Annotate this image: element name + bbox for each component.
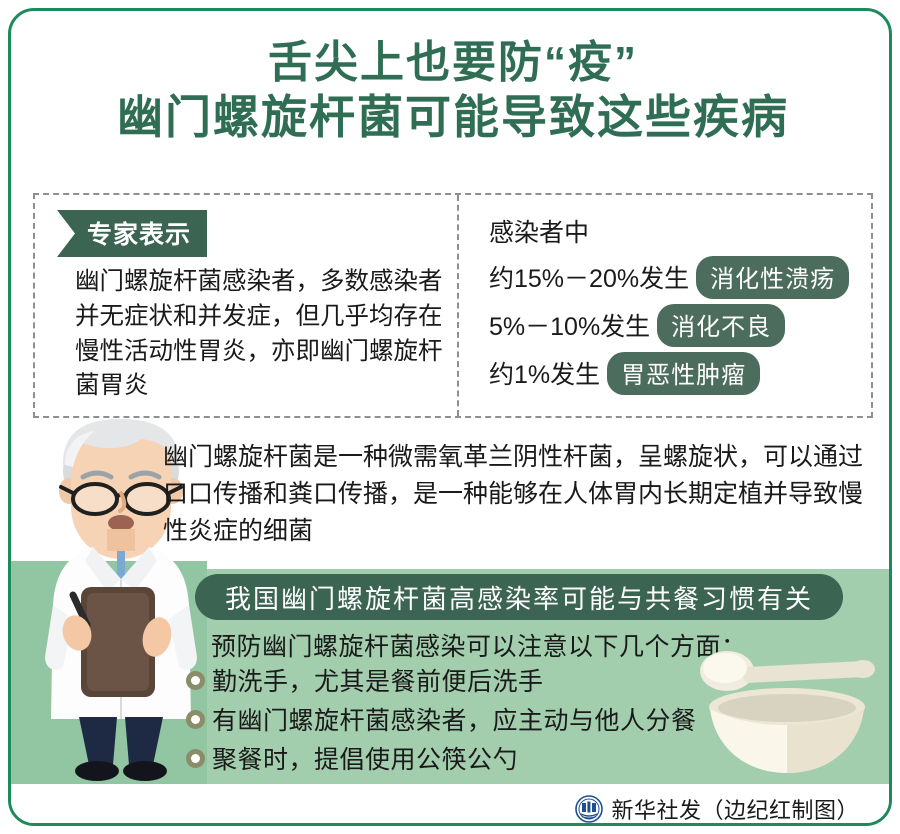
stats-heading: 感染者中 [489, 217, 861, 250]
habit-banner: 我国幽门螺旋杆菌高感染率可能与共餐习惯有关 [195, 574, 843, 620]
spoon-illustration [700, 651, 875, 691]
infographic-poster: 舌尖上也要防“疫” 幽门螺旋杆菌可能导致这些疾病 专家表示 幽门螺旋杆菌感染者，… [0, 0, 900, 834]
status-badge: 消化性溃疡 [696, 256, 849, 299]
xinhua-logo-icon [575, 795, 603, 823]
ring-bullet-icon [186, 710, 205, 729]
stat-row: 5%－10%发生 消化不良 [489, 304, 861, 347]
infection-stats-panel: 感染者中 约15%－20%发生 消化性溃疡 5%－10%发生 消化不良 约1%发… [459, 195, 871, 416]
dashed-panel-group: 专家表示 幽门螺旋杆菌感染者，多数感染者并无症状和并发症，但几乎均存在慢性活动性… [33, 193, 873, 418]
stat-row: 约15%－20%发生 消化性溃疡 [489, 256, 861, 299]
expert-ribbon-label: 专家表示 [57, 210, 207, 257]
list-item: 聚餐时，提倡使用公筷公勺 [186, 740, 697, 776]
expert-statement-text: 幽门螺旋杆菌感染者，多数感染者并无症状和并发症，但几乎均存在慢性活动性胃炎，亦即… [51, 265, 443, 404]
bowl-illustration [709, 688, 865, 773]
status-badge: 消化不良 [657, 304, 785, 347]
stat-row: 约1%发生 胃恶性肿瘤 [489, 352, 861, 395]
stat-prefix: 约15%－20%发生 [489, 259, 689, 295]
prevention-heading: 预防幽门螺旋杆菌感染可以注意以下几个方面： [211, 627, 747, 663]
list-item-label: 勤洗手，尤其是餐前便后洗手 [212, 662, 544, 698]
stat-prefix: 5%－10%发生 [489, 307, 650, 343]
list-item: 有幽门螺旋杆菌感染者，应主动与他人分餐 [186, 701, 697, 737]
poster-frame: 舌尖上也要防“疫” 幽门螺旋杆菌可能导致这些疾病 专家表示 幽门螺旋杆菌感染者，… [8, 8, 892, 826]
bacteria-description-text: 幽门螺旋杆菌是一种微需氧革兰阴性杆菌，呈螺旋状，可以通过口口传播和粪口传播，是一… [163, 439, 875, 549]
tableware-illustration [691, 651, 881, 781]
title-line-1: 舌尖上也要防“疫” [11, 37, 892, 90]
list-item-label: 聚餐时，提倡使用公筷公勺 [212, 740, 518, 776]
status-badge: 胃恶性肿瘤 [607, 352, 760, 395]
stat-prefix: 约1%发生 [489, 355, 600, 391]
footer-credit-bar: 新华社发（边纪红制图） [11, 789, 892, 826]
prevention-list: 勤洗手，尤其是餐前便后洗手 有幽门螺旋杆菌感染者，应主动与他人分餐 聚餐时，提倡… [186, 662, 697, 779]
credit-text: 新华社发（边纪红制图） [611, 793, 859, 825]
page-title: 舌尖上也要防“疫” 幽门螺旋杆菌可能导致这些疾病 [11, 37, 892, 145]
ring-bullet-icon [186, 671, 205, 690]
expert-statement-panel: 专家表示 幽门螺旋杆菌感染者，多数感染者并无症状和并发症，但几乎均存在慢性活动性… [35, 195, 459, 416]
ring-bullet-icon [186, 749, 205, 768]
list-item-label: 有幽门螺旋杆菌感染者，应主动与他人分餐 [212, 701, 697, 737]
list-item: 勤洗手，尤其是餐前便后洗手 [186, 662, 697, 698]
title-line-2: 幽门螺旋杆菌可能导致这些疾病 [11, 90, 892, 145]
